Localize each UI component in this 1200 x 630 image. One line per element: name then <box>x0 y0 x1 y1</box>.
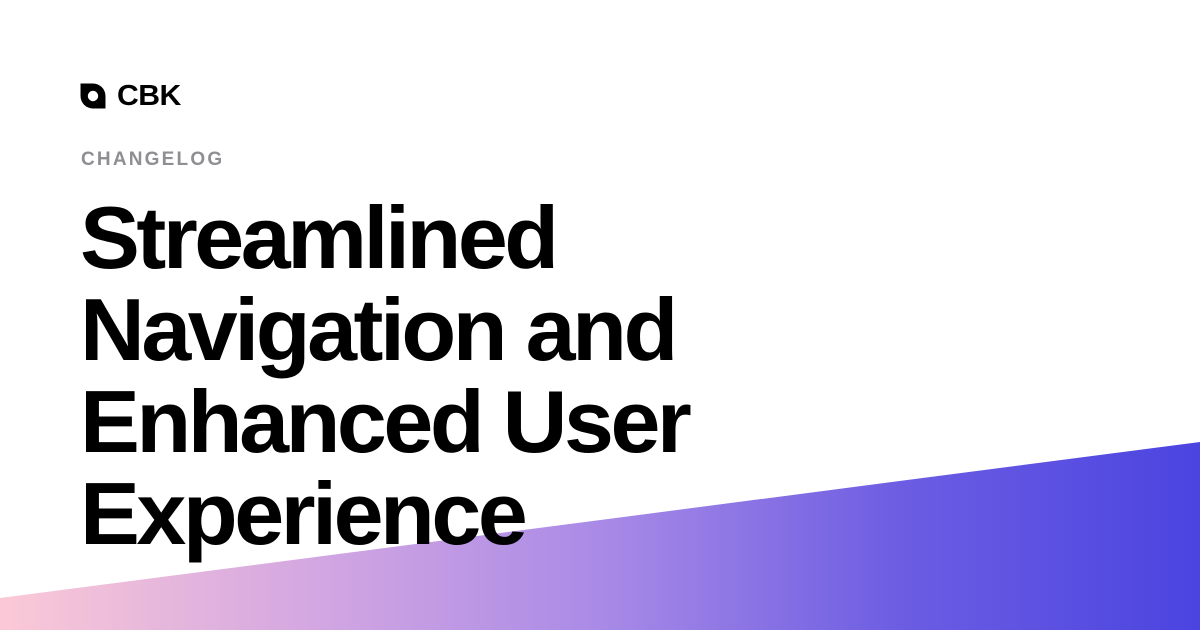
brand-wordmark: CBK <box>117 82 181 111</box>
banner-content: CBK CHANGELOG Streamlined Navigation and… <box>0 0 1200 630</box>
eyebrow-label: CHANGELOG <box>81 150 224 169</box>
brand-logo[interactable]: CBK <box>80 79 178 113</box>
changelog-banner: CBK CHANGELOG Streamlined Navigation and… <box>0 0 1200 630</box>
cbk-logo-mark-icon <box>80 83 106 109</box>
page-title: Streamlined Navigation and Enhanced User… <box>80 192 937 560</box>
